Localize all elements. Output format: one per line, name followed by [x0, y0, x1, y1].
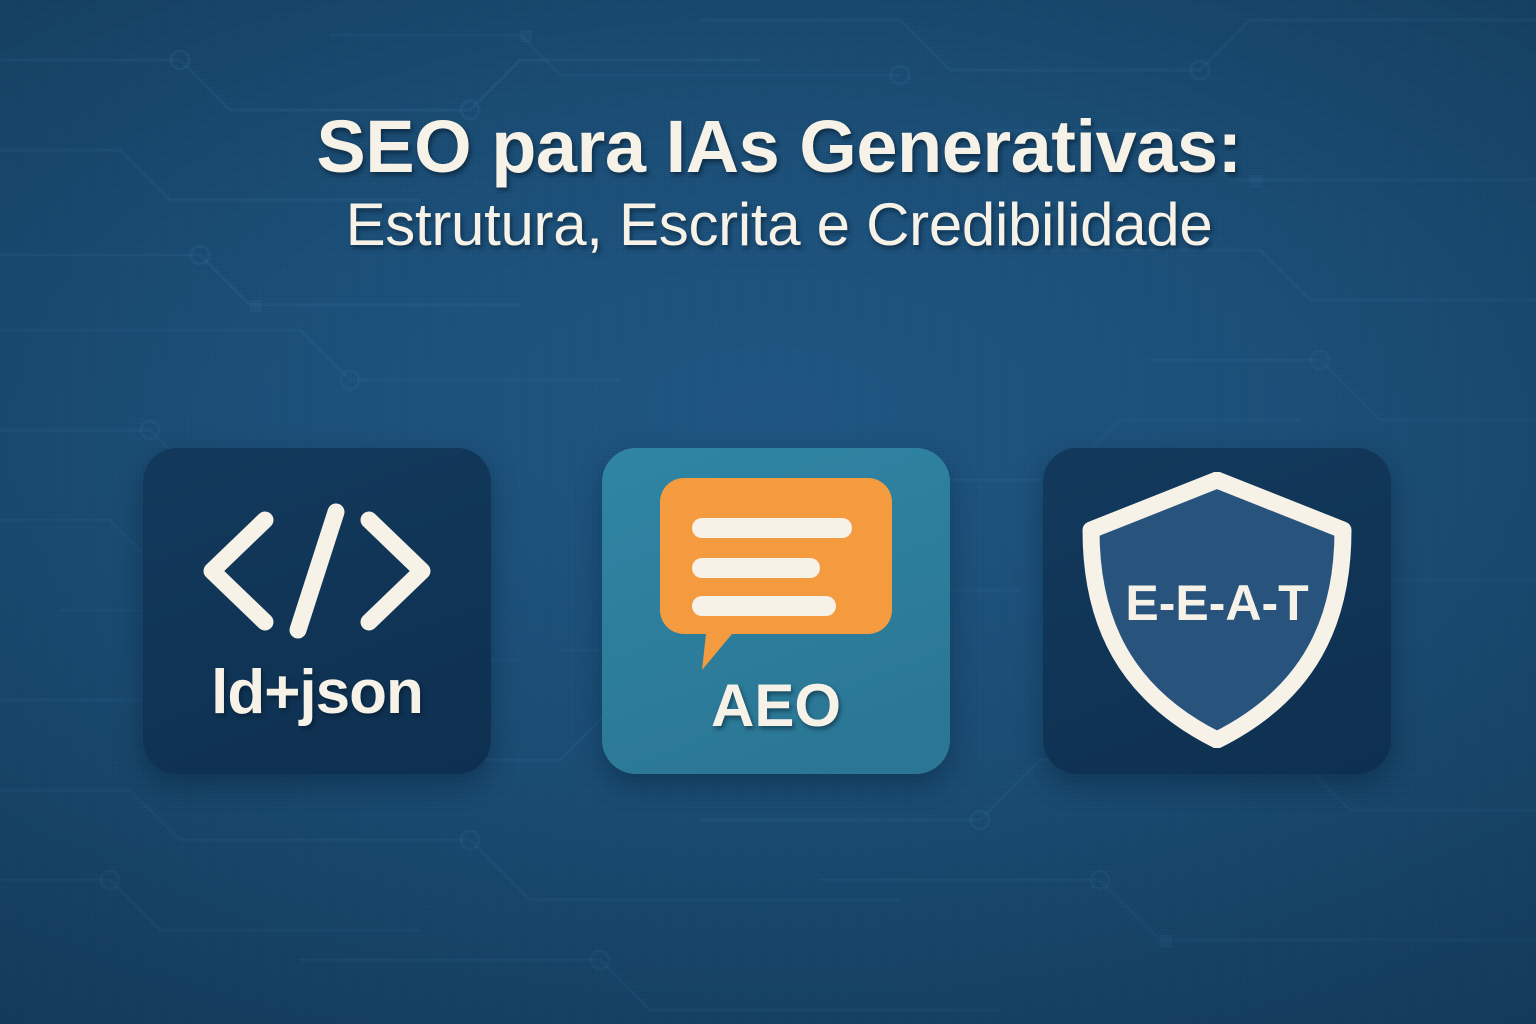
flow-step-caption-aeo: AEO: [711, 676, 841, 736]
speech-bubble-icon: [660, 478, 892, 670]
infographic-banner: SEO para IAs Generativas: Estrutura, Esc…: [0, 0, 1536, 1024]
flow-diagram: ld+json: [0, 448, 1536, 774]
flow-step-aeo[interactable]: AEO: [602, 448, 950, 774]
title-line-primary: SEO para IAs Generativas:: [22, 108, 1536, 186]
shield-label: E-E-A-T: [1125, 575, 1308, 631]
code-brackets-icon: [192, 496, 442, 646]
title-line-secondary: Estrutura, Escrita e Credibilidade: [22, 192, 1536, 258]
flow-step-ldjson[interactable]: ld+json: [143, 448, 491, 774]
shield-icon: E-E-A-T: [1081, 472, 1353, 748]
flow-step-caption-ldjson: ld+json: [211, 662, 423, 724]
flow-step-eeat[interactable]: E-E-A-T: [1043, 448, 1391, 774]
page-title: SEO para IAs Generativas: Estrutura, Esc…: [0, 108, 1536, 258]
